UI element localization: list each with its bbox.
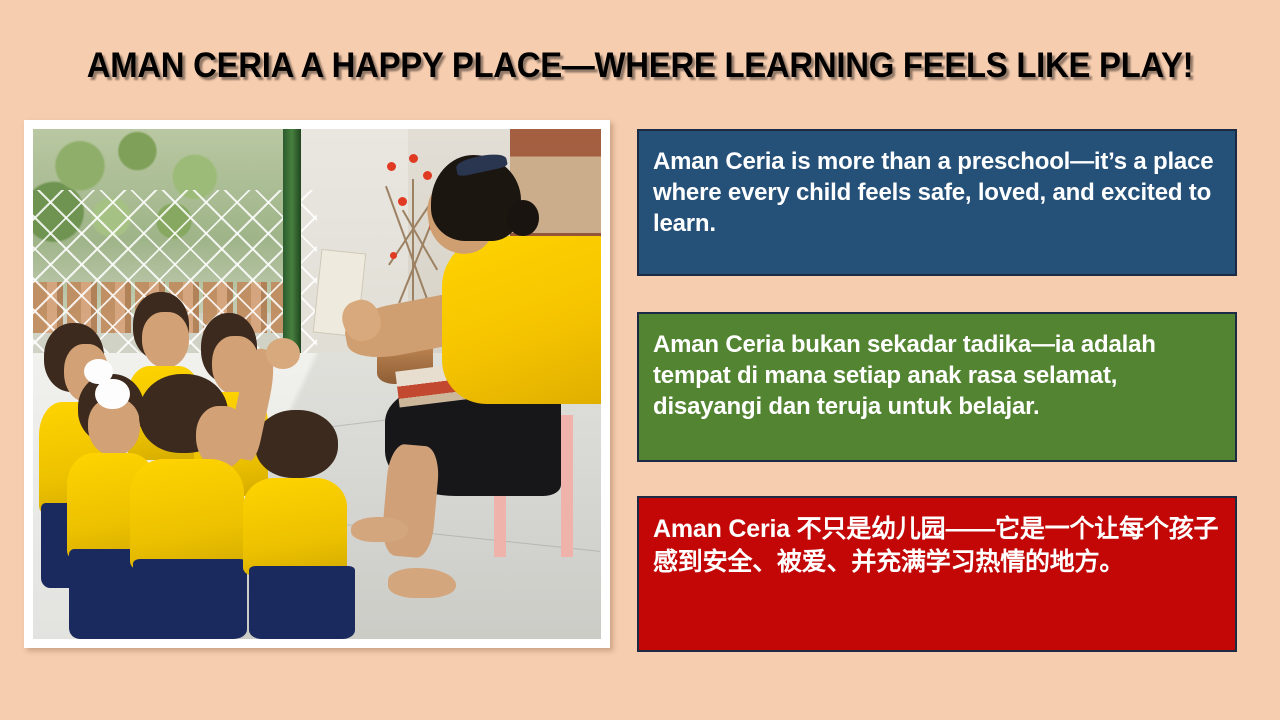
classroom-photo — [33, 129, 601, 639]
callout-chinese: Aman Ceria 不只是幼儿园——它是一个让每个孩子感到安全、被爱、并充满学… — [637, 496, 1237, 652]
callout-english: Aman Ceria is more than a preschool—it’s… — [637, 129, 1237, 276]
slide-canvas: AMAN CERIA A HAPPY PLACE—WHERE LEARNING … — [0, 0, 1280, 720]
page-title: AMAN CERIA A HAPPY PLACE—WHERE LEARNING … — [38, 46, 1241, 86]
callout-malay: Aman Ceria bukan sekadar tadika—ia adala… — [637, 312, 1237, 462]
photo-child — [243, 410, 391, 640]
photo-child-hand — [266, 338, 300, 369]
photo-hair-bow — [95, 379, 129, 410]
photo-frame — [24, 120, 610, 648]
callout-malay-text: Aman Ceria bukan sekadar tadika—ia adala… — [653, 329, 1221, 423]
callout-english-text: Aman Ceria is more than a preschool—it’s… — [653, 146, 1221, 240]
photo-teacher-shirt — [442, 236, 601, 404]
photo-teacher-hair-bun — [507, 200, 538, 236]
callout-chinese-text: Aman Ceria 不只是幼儿园——它是一个让每个孩子感到安全、被爱、并充满学… — [653, 513, 1221, 579]
